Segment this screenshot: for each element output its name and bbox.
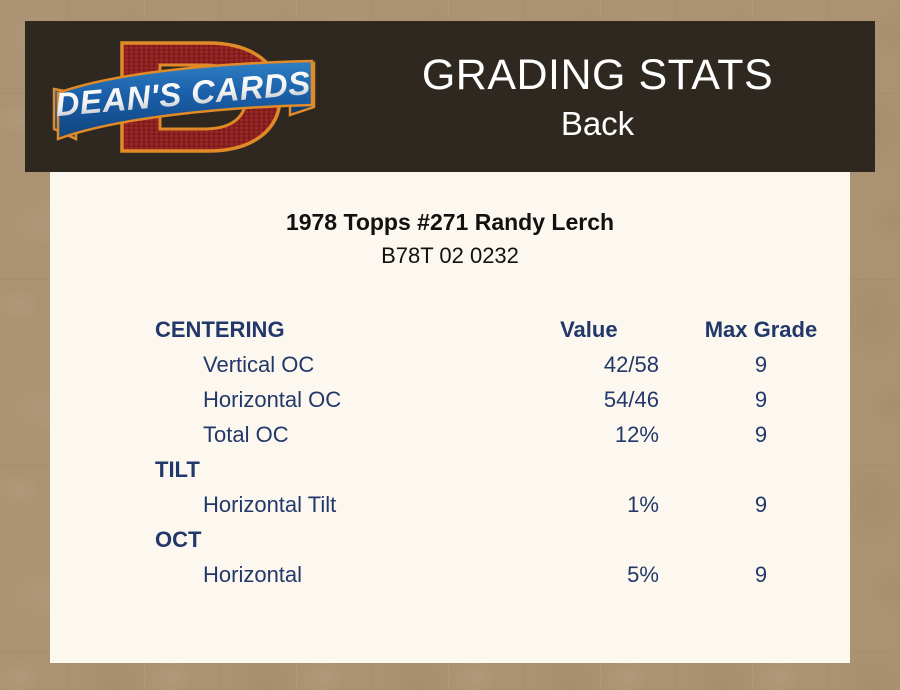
row-label: Horizontal	[155, 557, 501, 592]
page-title: GRADING STATS	[422, 50, 773, 100]
table-row: Vertical OC 42/58 9	[155, 347, 845, 382]
row-value: 1%	[501, 487, 677, 522]
page-subtitle: Back	[561, 104, 634, 144]
row-label: Total OC	[155, 417, 501, 452]
grading-stats-body: CENTERING Value Max Grade Vertical OC 42…	[155, 312, 845, 592]
deans-cards-logo[interactable]: DEAN'S CARDS	[48, 27, 320, 167]
grading-stats-table: CENTERING Value Max Grade Vertical OC 42…	[155, 312, 845, 592]
table-row: Horizontal 5% 9	[155, 557, 845, 592]
row-grade: 9	[677, 417, 845, 452]
content-panel: 1978 Topps #271 Randy Lerch B78T 02 0232…	[50, 172, 850, 663]
table-header-row: CENTERING Value Max Grade	[155, 312, 845, 347]
table-row: Horizontal Tilt 1% 9	[155, 487, 845, 522]
row-grade: 9	[677, 382, 845, 417]
card-code: B78T 02 0232	[50, 242, 850, 270]
section-header-row: TILT	[155, 452, 845, 487]
section-header-oct: OCT	[155, 522, 501, 557]
card-title: 1978 Topps #271 Randy Lerch	[50, 208, 850, 236]
section-spacer-grade	[677, 452, 845, 487]
row-value: 12%	[501, 417, 677, 452]
row-grade: 9	[677, 557, 845, 592]
section-spacer-grade	[677, 522, 845, 557]
row-grade: 9	[677, 487, 845, 522]
header-bar: DEAN'S CARDS GRADING STATS Back	[25, 21, 875, 172]
section-header-row: OCT	[155, 522, 845, 557]
table-row: Horizontal OC 54/46 9	[155, 382, 845, 417]
row-label: Horizontal Tilt	[155, 487, 501, 522]
column-header-value: Value	[501, 312, 677, 347]
header-title-group: GRADING STATS Back	[320, 21, 875, 172]
column-header-max-grade: Max Grade	[677, 312, 845, 347]
table-row: Total OC 12% 9	[155, 417, 845, 452]
row-value: 5%	[501, 557, 677, 592]
row-grade: 9	[677, 347, 845, 382]
row-value: 42/58	[501, 347, 677, 382]
section-spacer-value	[501, 522, 677, 557]
row-label: Horizontal OC	[155, 382, 501, 417]
row-label: Vertical OC	[155, 347, 501, 382]
logo-graphic: DEAN'S CARDS	[48, 27, 320, 167]
section-header-tilt: TILT	[155, 452, 501, 487]
row-value: 54/46	[501, 382, 677, 417]
section-header-centering: CENTERING	[155, 312, 501, 347]
section-spacer-value	[501, 452, 677, 487]
